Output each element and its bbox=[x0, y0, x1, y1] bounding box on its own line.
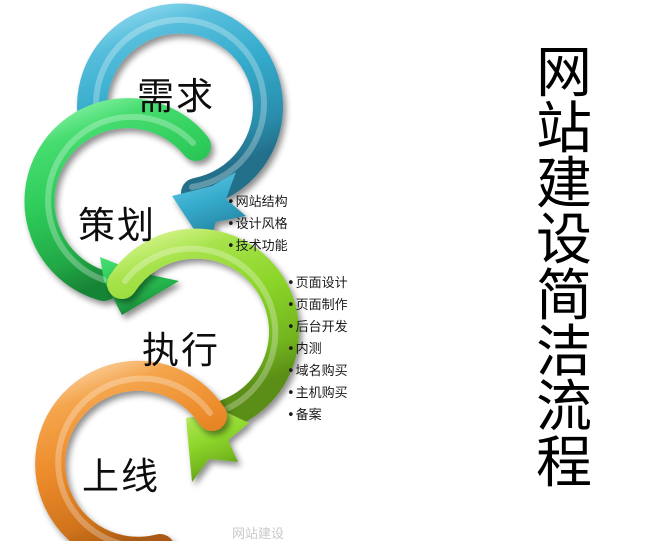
list-item-label: 主机购买 bbox=[296, 386, 348, 401]
list-item-label: 设计风格 bbox=[236, 217, 288, 232]
list-item-label: 内测 bbox=[296, 342, 322, 357]
list-item: •内测 bbox=[287, 343, 348, 356]
stage-label-exec: 执行 bbox=[142, 332, 220, 369]
title-char: 流 bbox=[524, 380, 604, 436]
list-item: •备案 bbox=[287, 409, 348, 422]
bullet-list-need: •网站结构 •设计风格 •技术功能 bbox=[227, 196, 288, 262]
bullet-marker: • bbox=[287, 277, 295, 290]
title-char: 网 bbox=[524, 46, 604, 102]
bullet-marker: • bbox=[227, 218, 235, 231]
bullet-marker: • bbox=[287, 299, 295, 312]
bullet-marker: • bbox=[287, 409, 295, 422]
bullet-marker: • bbox=[287, 365, 295, 378]
list-item-label: 页面制作 bbox=[296, 298, 348, 313]
list-item: •设计风格 bbox=[227, 218, 288, 231]
stage-label-plan: 策划 bbox=[78, 207, 156, 244]
title-char: 建 bbox=[524, 157, 604, 213]
diagram-canvas: 需求 策划 执行 上线 •网站结构 •设计风格 •技术功能 •页面设计 •页面制… bbox=[0, 0, 655, 541]
stage-label-live: 上线 bbox=[82, 458, 160, 495]
bullet-list-exec: •页面设计 •页面制作 •后台开发 •内测 •域名购买 •主机购买 •备案 bbox=[287, 277, 348, 431]
title-char: 简 bbox=[524, 269, 604, 325]
page-title: 网 站 建 设 简 洁 流 程 bbox=[524, 46, 604, 492]
list-item: •页面设计 bbox=[287, 277, 348, 290]
list-item-label: 后台开发 bbox=[296, 320, 348, 335]
title-char: 设 bbox=[524, 213, 604, 269]
bottom-caption: 网站建设 bbox=[232, 528, 284, 541]
list-item-label: 备案 bbox=[296, 408, 322, 423]
list-item-label: 网站结构 bbox=[236, 195, 288, 210]
list-item: •后台开发 bbox=[287, 321, 348, 334]
list-item: •主机购买 bbox=[287, 387, 348, 400]
stage-label-need: 需求 bbox=[137, 78, 215, 115]
process-diagram: 需求 策划 执行 上线 bbox=[0, 0, 500, 541]
list-item-label: 技术功能 bbox=[236, 239, 288, 254]
list-item-label: 页面设计 bbox=[296, 276, 348, 291]
bullet-marker: • bbox=[227, 196, 235, 209]
list-item: •页面制作 bbox=[287, 299, 348, 312]
list-item: •域名购买 bbox=[287, 365, 348, 378]
list-item-label: 域名购买 bbox=[296, 364, 348, 379]
title-char: 洁 bbox=[524, 325, 604, 381]
list-item: •技术功能 bbox=[227, 240, 288, 253]
title-char: 站 bbox=[524, 102, 604, 158]
bullet-marker: • bbox=[287, 343, 295, 356]
bullet-marker: • bbox=[287, 321, 295, 334]
bullet-marker: • bbox=[287, 387, 295, 400]
bullet-marker: • bbox=[227, 240, 235, 253]
list-item: •网站结构 bbox=[227, 196, 288, 209]
title-char: 程 bbox=[524, 436, 604, 492]
